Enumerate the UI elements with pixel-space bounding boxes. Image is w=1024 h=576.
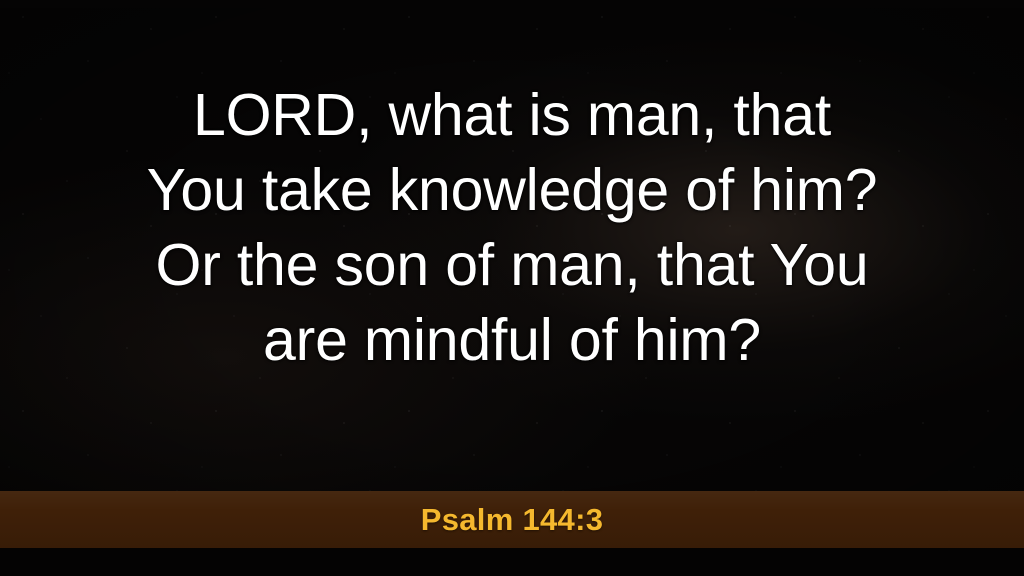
verse-line-1: LORD, what is man, that — [0, 78, 1024, 153]
verse-line-4: are mindful of him? — [0, 303, 1024, 378]
bottom-letterbox-strip — [0, 548, 1024, 576]
verse-line-2: You take knowledge of him? — [0, 153, 1024, 228]
top-letterbox-strip — [0, 0, 1024, 8]
citation-bar: Psalm 144:3 — [0, 491, 1024, 548]
verse-text-block: LORD, what is man, that You take knowled… — [0, 78, 1024, 378]
scripture-reference: Psalm 144:3 — [421, 504, 604, 535]
scripture-slide: LORD, what is man, that You take knowled… — [0, 0, 1024, 576]
verse-line-3: Or the son of man, that You — [0, 228, 1024, 303]
